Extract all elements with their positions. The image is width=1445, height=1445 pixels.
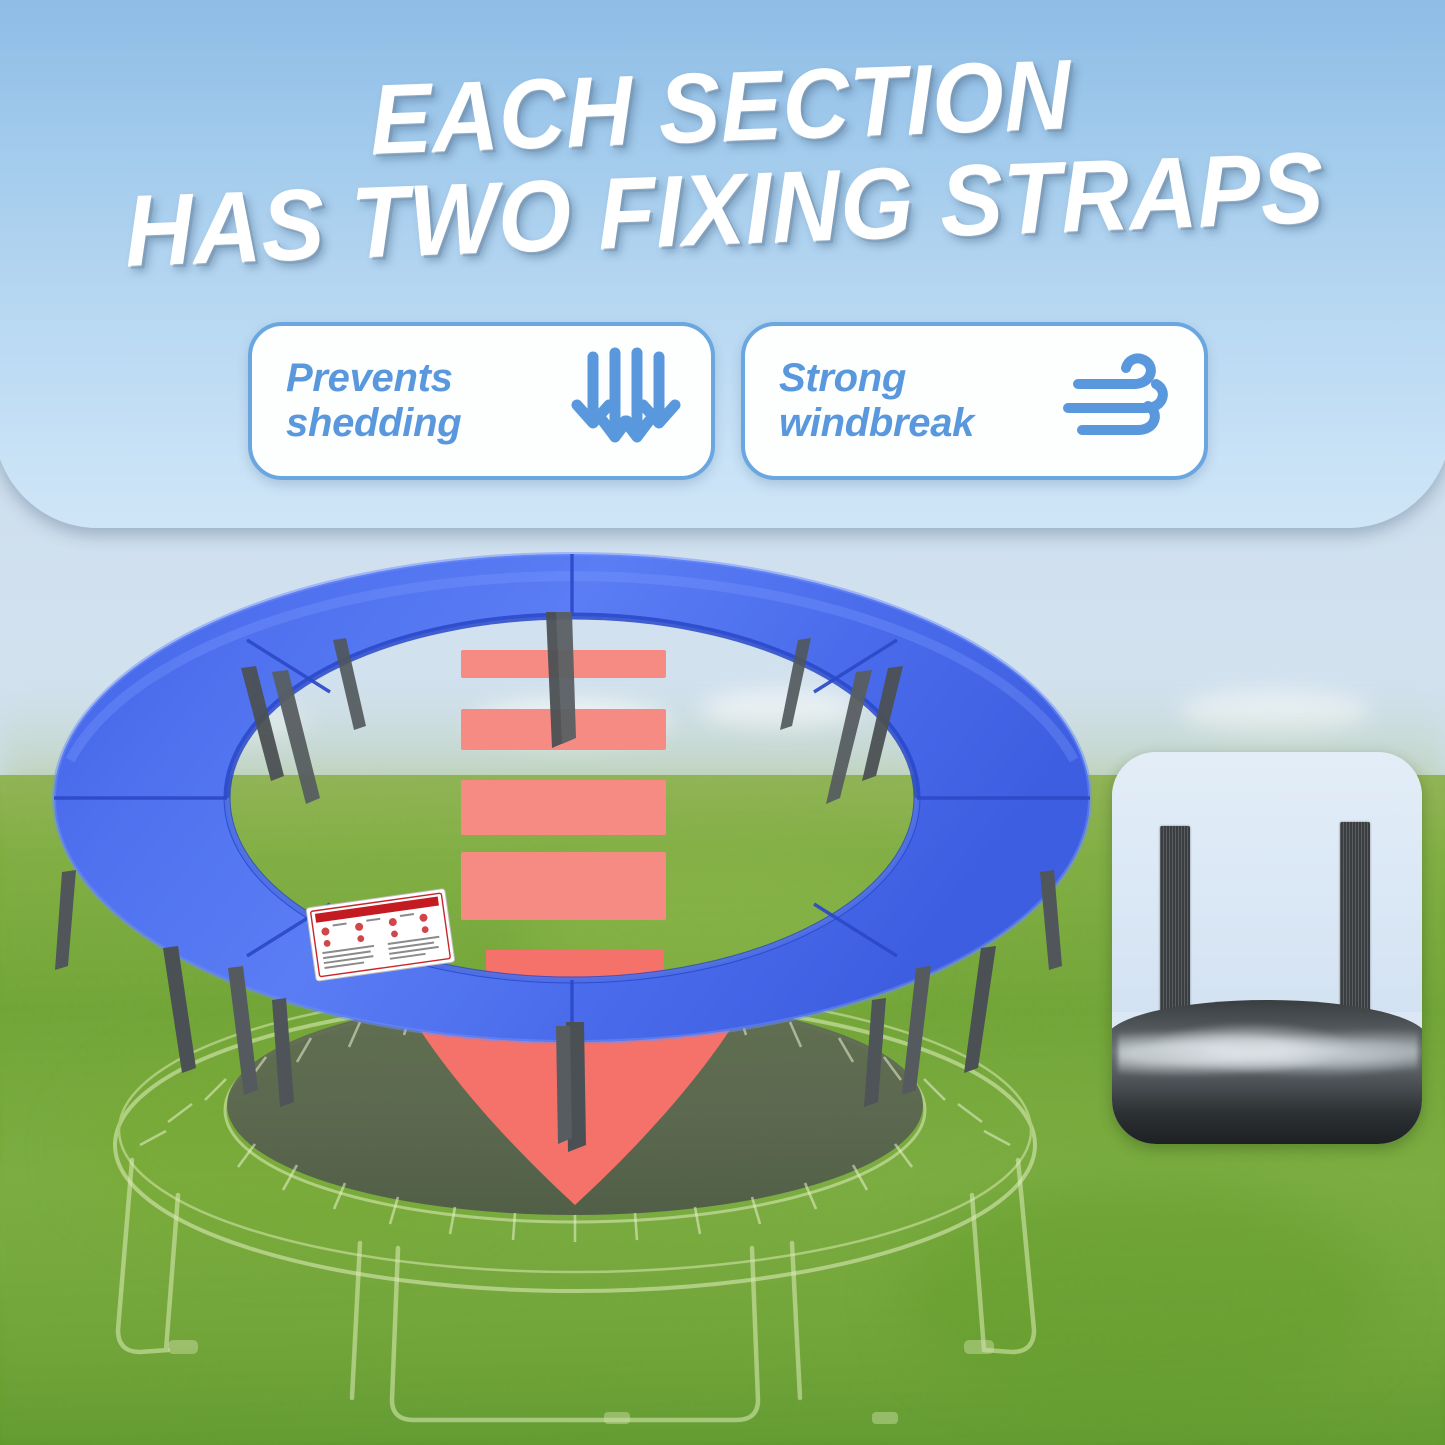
closeup-strap-left bbox=[1160, 826, 1190, 1014]
down-arrows-icon bbox=[569, 347, 685, 455]
fixing-straps-closeup bbox=[1112, 752, 1422, 1144]
closeup-sky bbox=[1112, 752, 1422, 1012]
badge-strong-windbreak-label: Strong windbreak bbox=[779, 356, 974, 446]
feature-badges: Prevents shedding bbox=[248, 322, 1208, 480]
closeup-strap-right bbox=[1340, 822, 1370, 1014]
poster-canvas: EACH SECTION HAS TWO FIXING STRAPS Preve… bbox=[0, 0, 1445, 1445]
badge-prevents-shedding[interactable]: Prevents shedding bbox=[248, 322, 715, 480]
closeup-pad-sheen bbox=[1118, 1020, 1418, 1090]
badge-prevents-shedding-label: Prevents shedding bbox=[286, 356, 461, 446]
badge-strong-windbreak[interactable]: Strong windbreak bbox=[741, 322, 1208, 480]
wind-icon bbox=[1060, 350, 1178, 452]
